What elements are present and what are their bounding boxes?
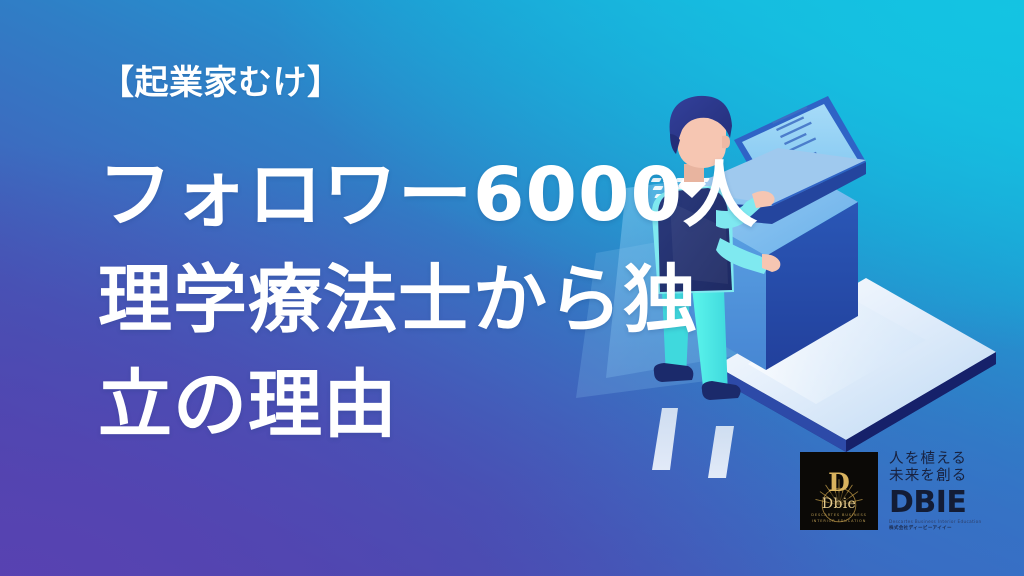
wordmark-fine-1: Descartes Business Interior Education: [889, 520, 977, 524]
wordmark-tagline-2: 未来を創る: [889, 468, 977, 485]
wordmark-tagline-1: 人を植える: [889, 451, 977, 468]
emblem-monogram: D: [800, 470, 878, 495]
emblem-tagline-1: DESCARTES BUSINESS: [801, 514, 877, 518]
illustration-person-with-laptop: [566, 78, 1006, 478]
wordmark-brand: DBIE: [889, 488, 977, 518]
emblem-wordmark: Dbie: [800, 497, 878, 511]
logo-lockup: D Dbie DESCARTES BUSINESS INTERIOR EDUCA…: [800, 448, 978, 534]
wordmark-fine-2: 株式会社ディービーアイイー: [889, 527, 977, 532]
emblem-tagline-2: INTERIOR EDUCATION: [801, 520, 877, 524]
thumbnail-canvas: 【起業家むけ】 フォロワー6000人 理学療法士から独 立の理由: [0, 0, 1024, 576]
dbie-emblem-logo: D Dbie DESCARTES BUSINESS INTERIOR EDUCA…: [800, 452, 878, 530]
dbie-wordmark-logo: 人を植える 未来を創る DBIE Descartes Business Inte…: [889, 451, 977, 532]
